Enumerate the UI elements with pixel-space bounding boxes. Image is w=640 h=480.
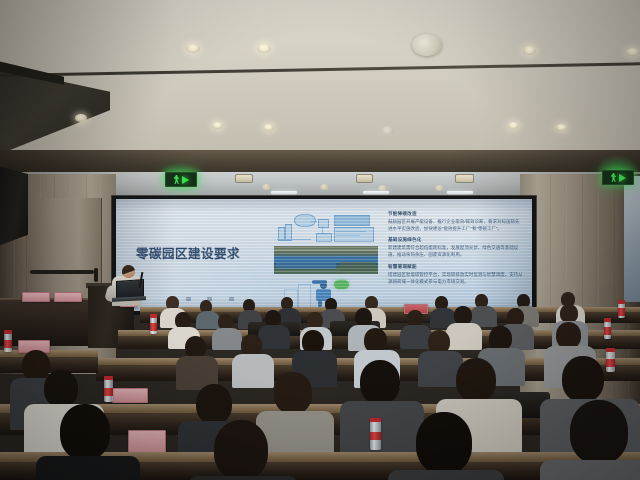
water-bottle <box>104 376 113 402</box>
door-handle[interactable] <box>94 268 98 282</box>
ceiling-shadow-right <box>420 0 640 152</box>
door-push-bar[interactable] <box>30 270 94 274</box>
name-placard <box>54 292 82 302</box>
led-strip <box>447 191 473 194</box>
spotlight-icon <box>455 174 474 183</box>
smoke-detector-icon <box>381 126 394 135</box>
running-man-icon <box>611 173 617 182</box>
downlight-icon <box>320 184 329 190</box>
led-strip <box>271 191 297 194</box>
downlight-icon <box>212 122 223 129</box>
projection-screen[interactable]: 零碳园区建设要求 <box>116 199 532 311</box>
downlight-icon <box>435 185 444 191</box>
soffit-shading <box>0 150 640 174</box>
downlight-icon <box>523 46 536 55</box>
downlight-icon <box>186 44 200 53</box>
led-strip <box>363 191 389 194</box>
water-bottle <box>4 330 12 352</box>
exit-sign-right <box>602 170 634 185</box>
wall-speaker <box>0 166 28 246</box>
water-bottle <box>606 348 615 372</box>
water-bottle <box>618 300 625 318</box>
downlight-icon <box>257 44 271 53</box>
water-bottle <box>150 314 157 334</box>
downlight-icon <box>262 184 271 190</box>
downlight-icon <box>263 124 274 131</box>
downlight-icon <box>508 122 519 129</box>
water-bottle <box>370 418 381 450</box>
smoke-detector-icon <box>412 34 442 56</box>
spotlight-icon <box>235 174 253 183</box>
exit-sign-left <box>165 172 197 187</box>
name-placard <box>22 292 50 302</box>
downlight-icon <box>556 124 567 131</box>
window-sliver <box>624 176 640 302</box>
running-man-icon <box>174 175 180 184</box>
downlight-icon <box>626 48 639 56</box>
water-bottle <box>604 318 611 339</box>
arrow-right-icon <box>182 176 189 184</box>
name-placard <box>112 388 148 403</box>
screen-vignette <box>116 199 532 311</box>
presenter-head <box>122 265 135 278</box>
conference-room-photo: 零碳园区建设要求 <box>0 0 640 480</box>
spotlight-icon <box>356 174 373 183</box>
arrow-right-icon <box>619 174 626 182</box>
downlight-icon <box>75 114 87 122</box>
